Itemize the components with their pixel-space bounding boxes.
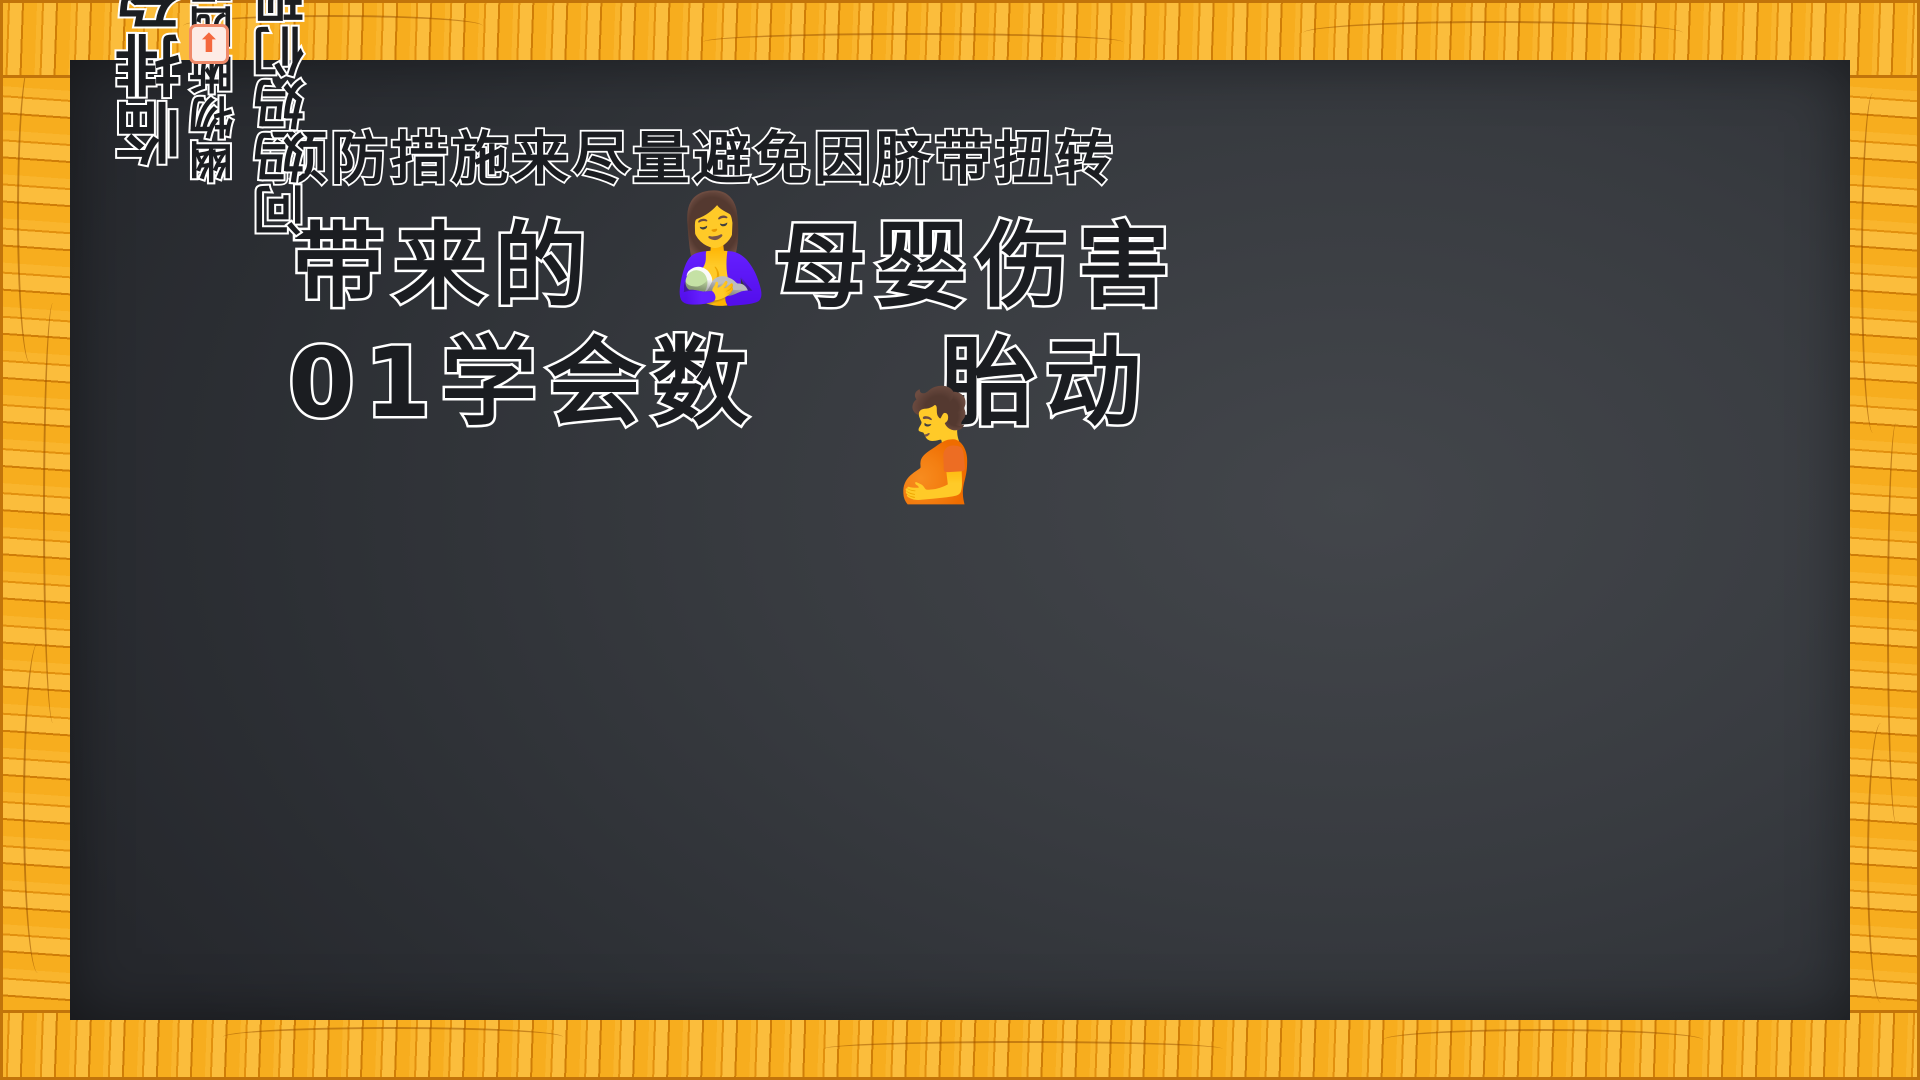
up-arrow-badge-icon: ⬆ <box>189 24 229 64</box>
frame-plank-left <box>0 0 78 1080</box>
headline-line-3: 01学会数 胎动 <box>288 305 1151 444</box>
mother-holding-baby-emoji: 🤱 <box>652 195 782 299</box>
frame-plank-bottom <box>0 1010 1920 1080</box>
frame-plank-right <box>1842 0 1920 1080</box>
slide-stage: 预防措施来尽量避免因脐带扭转 带来的 母婴伤害 01学会数 胎动 🤱 🫄 临排孕… <box>0 0 1920 1080</box>
fetus-emoji: 🫄 <box>868 392 1002 500</box>
corner-column-c: 问妈妈们现象 <box>246 0 321 236</box>
headline-line-2-tail: 母婴伤害 <box>774 213 1179 320</box>
corner-text-overlay: 临排孕 幽物晰园眠 问妈妈们现象 ⬆ <box>96 0 416 194</box>
headline-line-2-head: 带来的 <box>292 213 596 320</box>
headline-line-3-head: 01学会数 <box>288 327 758 439</box>
